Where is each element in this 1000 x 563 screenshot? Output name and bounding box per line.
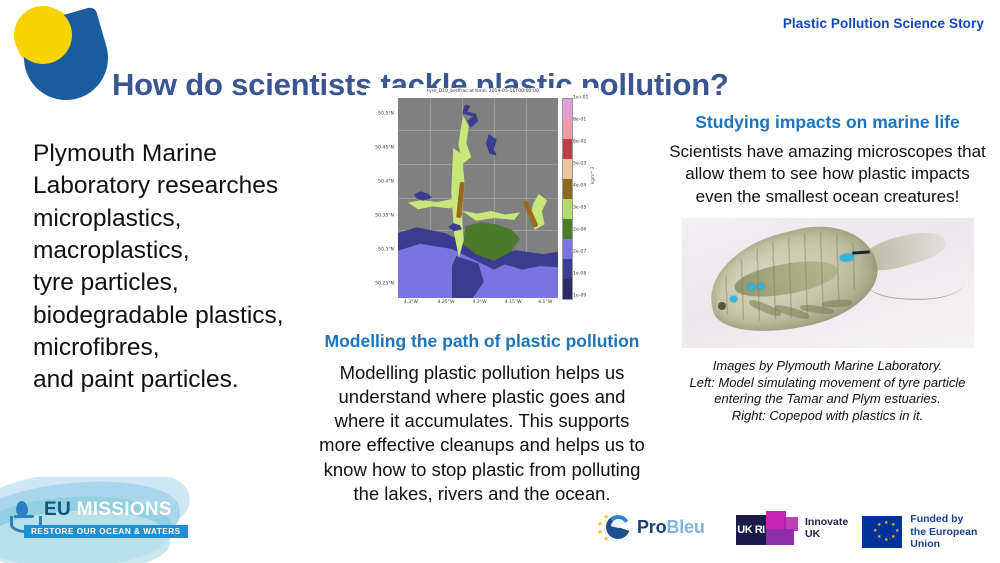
- water-wave-icon: [14, 515, 34, 518]
- innovate-uk-line1: Innovate: [805, 516, 848, 528]
- eu-funding-line1: Funded by: [910, 513, 994, 526]
- left-line: Laboratory researches: [33, 170, 353, 202]
- model-map-figure: tyre_D10_bedfrac at time: 2019-05-16T00:…: [366, 88, 598, 323]
- cbar-tick: 3e-05: [573, 206, 586, 211]
- cbar-tick: 1e-08: [573, 272, 586, 277]
- eu-missions-wordmark: EU MISSIONS: [44, 499, 172, 521]
- middle-body: Modelling plastic pollution helps us und…: [312, 361, 652, 505]
- left-line: and paint particles.: [33, 364, 353, 396]
- cbar-tick: 5e-03: [573, 162, 586, 167]
- footer-logo-row: ★ ★ ★ ★ ProBleu UK RI Innovate UK: [604, 509, 994, 555]
- y-tick: 50.4°N: [378, 180, 394, 185]
- probleu-pro: Pro: [637, 517, 666, 537]
- probleu-wordmark: ProBleu: [637, 517, 705, 538]
- x-tick: 4.1°W: [538, 300, 552, 305]
- eu-flag-icon: ★ ★ ★ ★ ★ ★ ★ ★: [862, 516, 902, 548]
- y-tick: 50.5°N: [378, 112, 394, 117]
- map-x-axis: 4.3°W 4.25°W 4.2°W 4.15°W 4.1°W: [398, 300, 558, 312]
- copepod-micrograph: [682, 218, 974, 348]
- caption-line: Right: Copepod with plastics in it.: [665, 408, 990, 425]
- eu-missions-eu: EU: [44, 499, 71, 520]
- caption-line: Images by Plymouth Marine Laboratory.: [665, 358, 990, 375]
- cbar-tick: 8e-01: [573, 118, 586, 123]
- left-line: biodegradable plastics,: [33, 300, 353, 332]
- probleu-logo: ★ ★ ★ ★ ProBleu: [604, 513, 705, 541]
- right-column: Studying impacts on marine life Scientis…: [665, 112, 990, 425]
- left-line: Plymouth Marine: [33, 138, 353, 170]
- innovate-uk-logo: UK RI Innovate UK: [736, 511, 848, 545]
- cbar-tick: 1e+01: [573, 96, 588, 101]
- ukri-block: [766, 511, 786, 531]
- y-tick: 50.3°N: [378, 248, 394, 253]
- left-column-body: Plymouth Marine Laboratory researches mi…: [33, 138, 353, 397]
- slide-root: Plastic Pollution Science Story How do s…: [0, 0, 1000, 563]
- left-line: microplastics,: [33, 203, 353, 235]
- x-tick: 4.25°W: [437, 300, 454, 305]
- middle-column: tyre_D10_bedfrac at time: 2019-05-16T00:…: [312, 88, 652, 506]
- ukri-block: [766, 529, 794, 545]
- x-tick: 4.2°W: [473, 300, 487, 305]
- left-line: tyre particles,: [33, 267, 353, 299]
- plastic-particle: [730, 296, 737, 302]
- story-kicker: Plastic Pollution Science Story: [783, 16, 984, 31]
- y-tick: 50.35°N: [375, 214, 394, 219]
- cbar-tick: 4e-04: [573, 184, 586, 189]
- plastic-particle: [758, 283, 764, 289]
- eu-funding-logo: ★ ★ ★ ★ ★ ★ ★ ★ Funded by the European U…: [862, 513, 994, 551]
- cbar-tick: 2e-06: [573, 228, 586, 233]
- ukri-mark-icon: UK RI: [736, 511, 798, 545]
- innovate-uk-wordmark: Innovate UK: [805, 516, 848, 541]
- map-colorbar: [562, 98, 573, 300]
- cbar-tick: 1e-09: [573, 294, 586, 299]
- caption-line: entering the Tamar and Plym estuaries.: [665, 391, 990, 408]
- eu-funding-wordmark: Funded by the European Union: [910, 513, 994, 551]
- right-heading: Studying impacts on marine life: [665, 112, 990, 133]
- eu-missions-logo: EU MISSIONS RESTORE OUR OCEAN & WATERS: [0, 477, 210, 563]
- image-caption: Images by Plymouth Marine Laboratory. Le…: [665, 358, 990, 426]
- ukri-square: UK RI: [736, 515, 766, 545]
- right-body: Scientists have amazing microscopes that…: [665, 141, 990, 207]
- cbar-tick: 2e-07: [573, 250, 586, 255]
- plastic-particle: [839, 253, 854, 261]
- map-title: tyre_D10_bedfrac at time: 2019-05-16T00:…: [388, 89, 578, 94]
- innovate-uk-line2: UK: [805, 528, 848, 540]
- middle-heading: Modelling the path of plastic pollution: [312, 331, 652, 352]
- copepod-antenna: [866, 260, 966, 306]
- eu-missions-missions: MISSIONS: [77, 499, 172, 520]
- eu-stars-icon: ★ ★ ★ ★: [597, 513, 613, 541]
- y-tick: 50.45°N: [375, 146, 394, 151]
- map-river-tributary: [484, 134, 500, 156]
- eu-missions-strapline: RESTORE OUR OCEAN & WATERS: [24, 525, 188, 538]
- map-y-axis: 50.5°N 50.45°N 50.4°N 50.35°N 50.3°N 50.…: [366, 98, 396, 298]
- left-line: microfibres,: [33, 332, 353, 364]
- eu-funding-line2: the European Union: [910, 526, 994, 551]
- map-plot-area: [398, 98, 558, 298]
- cbar-tick: 6e-02: [573, 140, 586, 145]
- x-tick: 4.3°W: [404, 300, 418, 305]
- brand-logo-yellow-notch: [14, 6, 72, 64]
- probleu-globe-icon: ★ ★ ★ ★: [604, 513, 632, 541]
- left-line: macroplastics,: [33, 235, 353, 267]
- plastic-particle: [748, 284, 755, 290]
- map-estuary-east: [462, 204, 520, 226]
- caption-line: Left: Model simulating movement of tyre …: [665, 375, 990, 392]
- y-tick: 50.25°N: [375, 282, 394, 287]
- map-colorbar-ticks: 1e+01 8e-01 6e-02 5e-03 4e-04 3e-05 2e-0…: [573, 98, 607, 298]
- probleu-bleu: Bleu: [666, 517, 704, 537]
- brand-logo-icon: [6, 2, 116, 102]
- map-colorbar-unit: kg/m^-2: [590, 167, 595, 184]
- x-tick: 4.15°W: [505, 300, 522, 305]
- copepod-eye: [718, 302, 726, 310]
